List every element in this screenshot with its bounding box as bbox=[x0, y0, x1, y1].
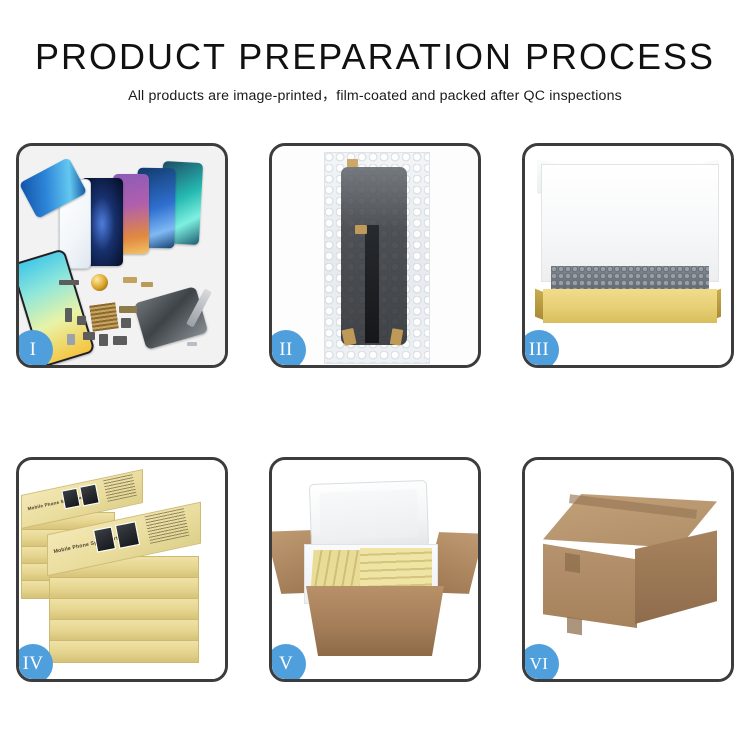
tape-icon bbox=[347, 159, 358, 167]
part-icon bbox=[99, 334, 108, 346]
page-subtitle: All products are image-printed，film-coat… bbox=[0, 85, 750, 105]
chip-array-icon bbox=[89, 302, 118, 331]
stacked-box bbox=[49, 619, 199, 642]
flex-cable-icon bbox=[365, 225, 379, 343]
box-window-phone-icon bbox=[115, 521, 140, 549]
styrofoam-lid-icon bbox=[309, 480, 429, 550]
carton-tape-icon bbox=[565, 553, 580, 573]
vibration-motor-icon bbox=[91, 274, 108, 291]
step-panel-5: V bbox=[269, 457, 481, 682]
step-3-image: III bbox=[525, 146, 731, 365]
kraft-box-base-icon bbox=[543, 289, 717, 323]
stacked-box bbox=[49, 577, 199, 600]
part-icon bbox=[67, 334, 75, 345]
header: PRODUCT PREPARATION PROCESS All products… bbox=[0, 38, 750, 105]
bubble-wrap-bag-icon bbox=[324, 152, 430, 364]
process-step-grid: I II bbox=[0, 143, 750, 683]
box-window-phone-icon bbox=[61, 488, 80, 510]
step-1-image: I bbox=[19, 146, 225, 365]
foam-lid-icon bbox=[541, 164, 719, 282]
page-title: PRODUCT PREPARATION PROCESS bbox=[0, 38, 750, 76]
step-5-image: V bbox=[272, 460, 478, 679]
part-icon bbox=[119, 306, 137, 313]
part-icon bbox=[77, 316, 86, 325]
part-icon bbox=[123, 277, 137, 283]
step-4-image: Mobile Phone Spare Parts Mobile Phone Sp… bbox=[19, 460, 225, 679]
tape-icon bbox=[355, 225, 367, 234]
step-6-image: VI bbox=[525, 460, 731, 679]
part-icon bbox=[121, 318, 131, 328]
styrofoam-lid-inner bbox=[319, 489, 419, 540]
part-icon bbox=[59, 280, 79, 285]
box-window-phone-icon bbox=[93, 526, 116, 552]
stacked-box bbox=[49, 598, 199, 621]
product-preparation-infographic: PRODUCT PREPARATION PROCESS All products… bbox=[0, 0, 750, 750]
part-icon bbox=[65, 308, 72, 322]
box-window-phone-icon bbox=[79, 484, 100, 507]
part-icon bbox=[141, 282, 153, 287]
part-icon bbox=[187, 342, 197, 346]
part-icon bbox=[83, 332, 95, 340]
carton-tape-icon bbox=[567, 617, 582, 635]
step-panel-3: III bbox=[522, 143, 734, 368]
part-icon bbox=[113, 336, 127, 345]
stacked-box bbox=[49, 640, 199, 663]
step-panel-6: VI bbox=[522, 457, 734, 682]
step-panel-2: II bbox=[269, 143, 481, 368]
carton-front-panel-icon bbox=[300, 586, 450, 656]
step-panel-4: Mobile Phone Spare Parts Mobile Phone Sp… bbox=[16, 457, 228, 682]
step-2-image: II bbox=[272, 146, 478, 365]
step-panel-1: I bbox=[16, 143, 228, 368]
